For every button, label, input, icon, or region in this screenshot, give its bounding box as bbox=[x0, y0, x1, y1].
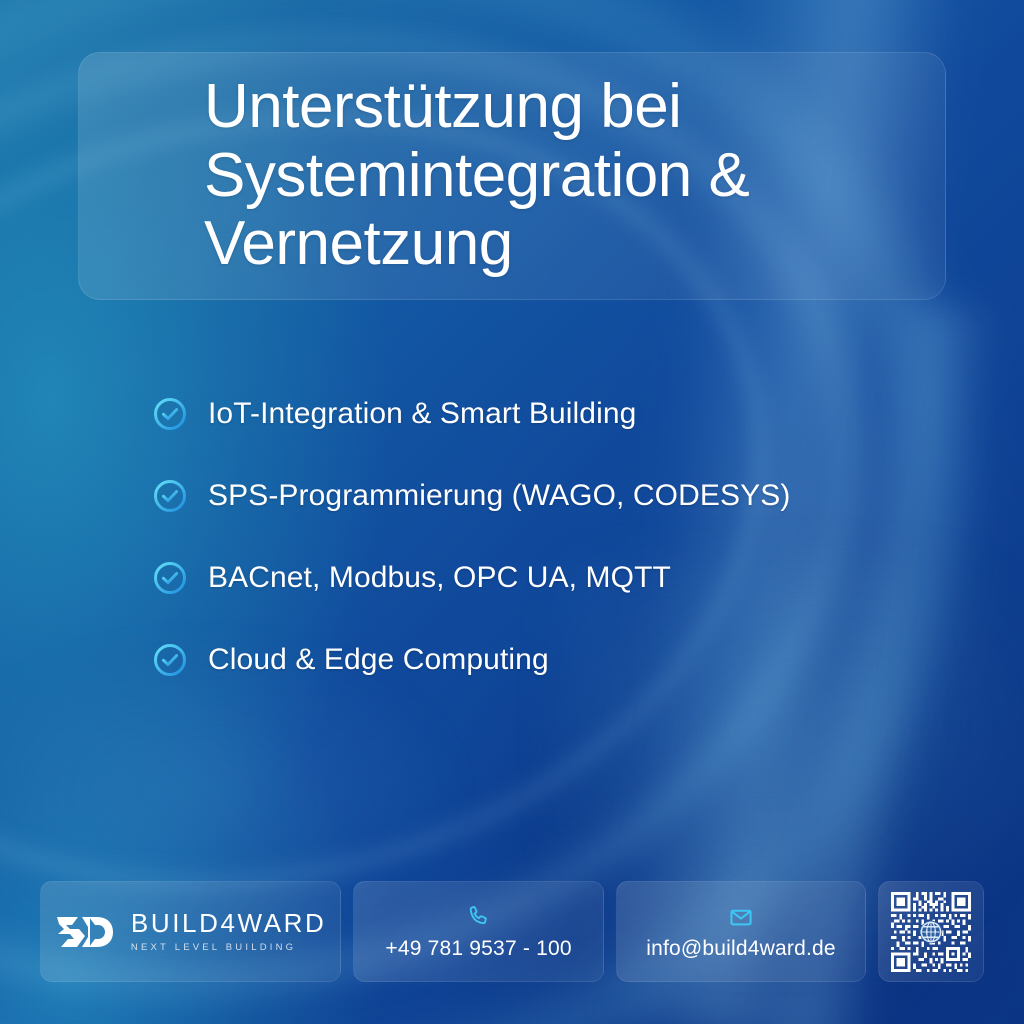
build4ward-monogram-icon bbox=[55, 912, 117, 952]
check-circle-icon bbox=[152, 642, 188, 678]
list-item: BACnet, Modbus, OPC UA, MQTT bbox=[152, 550, 992, 606]
phone-number: +49 781 9537 - 100 bbox=[385, 938, 571, 959]
list-item: Cloud & Edge Computing bbox=[152, 632, 992, 688]
title-card: Unterstützung bei Systemintegration & Ve… bbox=[78, 52, 946, 300]
phone-icon bbox=[466, 904, 492, 930]
brand-name: BUILD4WARD bbox=[131, 910, 327, 936]
feature-list: IoT-Integration & Smart Building SPS-Pro… bbox=[152, 386, 992, 714]
brand-logo-box: BUILD4WARD NEXT LEVEL BUILDING bbox=[40, 881, 341, 982]
list-item-label: BACnet, Modbus, OPC UA, MQTT bbox=[208, 561, 671, 595]
list-item-label: SPS-Programmierung (WAGO, CODESYS) bbox=[208, 479, 790, 513]
globe-icon bbox=[920, 920, 943, 943]
list-item-label: IoT-Integration & Smart Building bbox=[208, 397, 636, 431]
list-item-label: Cloud & Edge Computing bbox=[208, 643, 549, 677]
page-title: Unterstützung bei Systemintegration & Ve… bbox=[79, 73, 779, 279]
brand-tagline: NEXT LEVEL BUILDING bbox=[131, 943, 296, 953]
check-circle-icon bbox=[152, 396, 188, 432]
footer-bar: BUILD4WARD NEXT LEVEL BUILDING +49 781 9… bbox=[40, 881, 984, 982]
qr-code-icon bbox=[891, 892, 971, 972]
slide-canvas: Unterstützung bei Systemintegration & Ve… bbox=[0, 0, 1024, 1024]
contact-email-box[interactable]: info@build4ward.de bbox=[616, 881, 866, 982]
email-address: info@build4ward.de bbox=[646, 938, 836, 959]
envelope-icon bbox=[728, 904, 754, 930]
list-item: SPS-Programmierung (WAGO, CODESYS) bbox=[152, 468, 992, 524]
check-circle-icon bbox=[152, 478, 188, 514]
contact-phone-box[interactable]: +49 781 9537 - 100 bbox=[353, 881, 603, 982]
check-circle-icon bbox=[152, 560, 188, 596]
qr-code-box[interactable] bbox=[878, 881, 984, 982]
list-item: IoT-Integration & Smart Building bbox=[152, 386, 992, 442]
